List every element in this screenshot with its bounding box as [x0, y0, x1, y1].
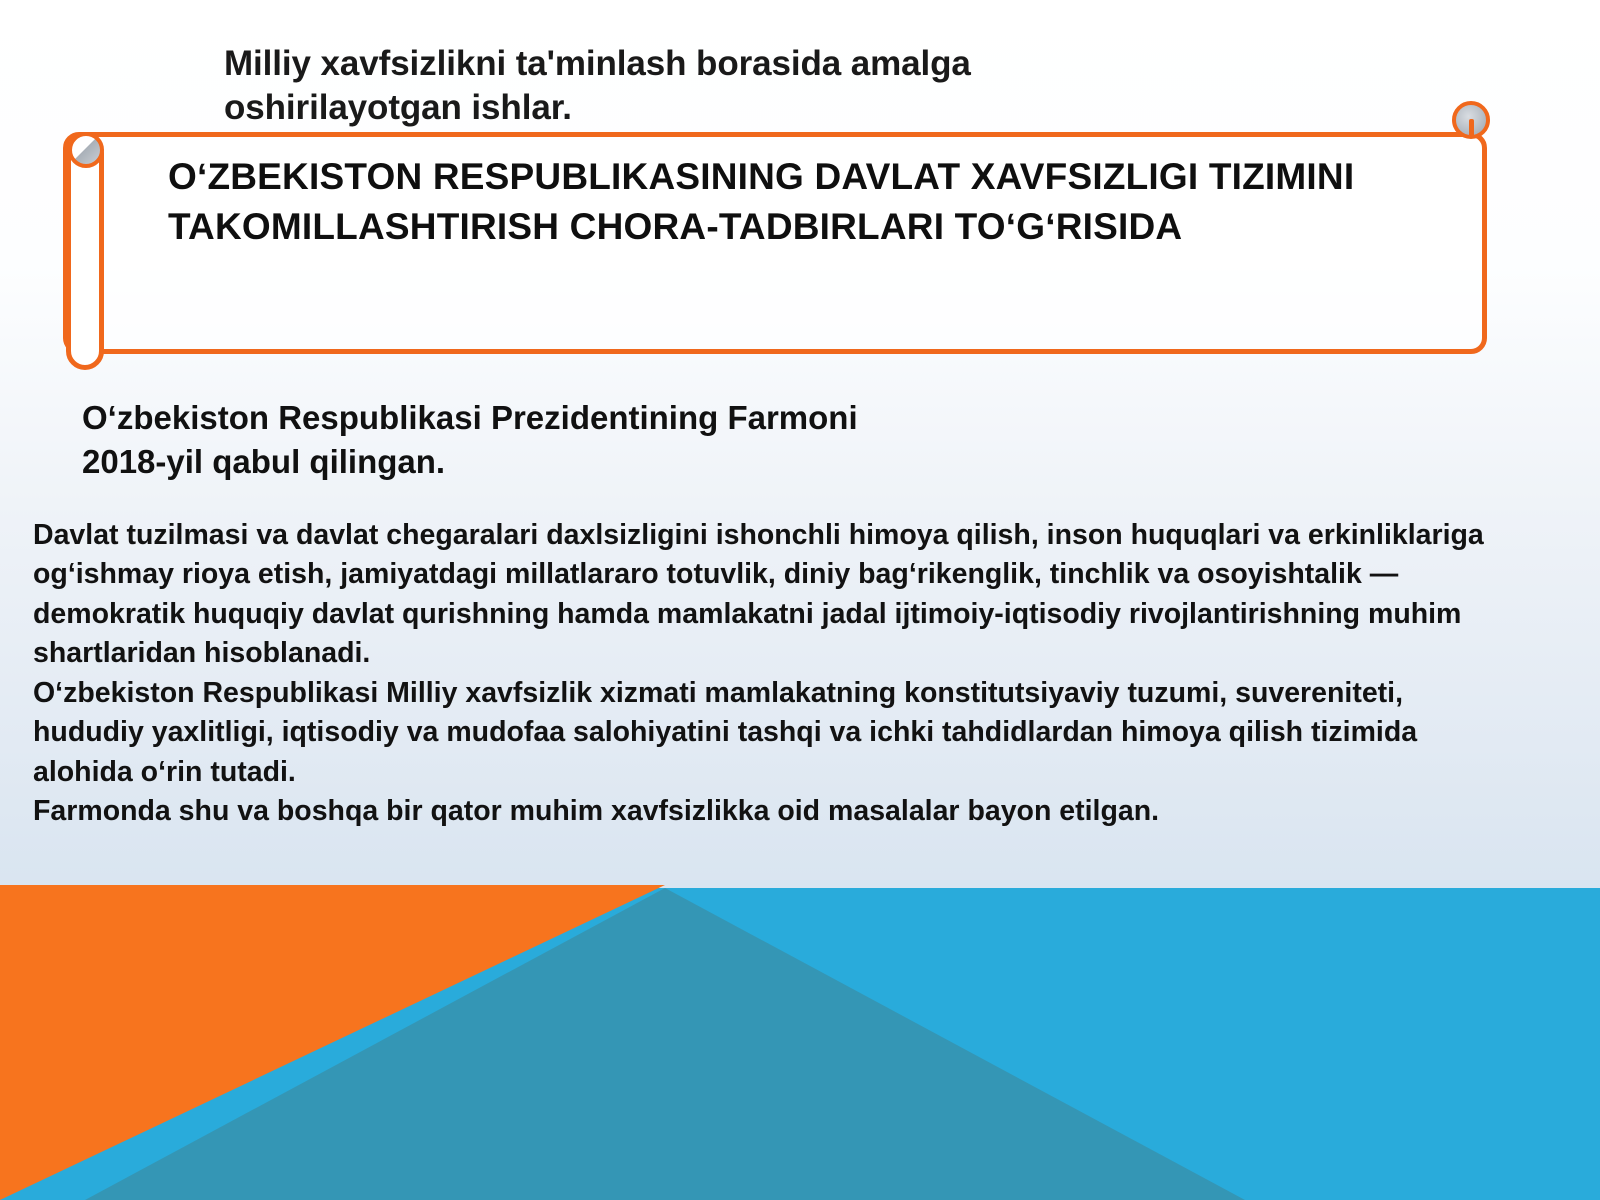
slide-canvas: Milliy xavfsizlikni ta'minlash borasida …: [0, 0, 1600, 1200]
scroll-roll: [66, 134, 104, 370]
body-paragraph: O‘zbekiston Respublikasi Milliy xavfsizl…: [33, 674, 1488, 792]
page-title: Milliy xavfsizlikni ta'minlash borasida …: [224, 42, 1174, 131]
scroll-knob-left-icon: [68, 132, 104, 168]
scroll-knob-right-icon: [1452, 101, 1490, 139]
body-paragraph: Davlat tuzilmasi va davlat chegaralari d…: [33, 516, 1488, 674]
decree-subtitle: O‘zbekiston Respublikasi Prezidentining …: [82, 396, 1232, 483]
decree-title: O‘ZBEKISTON RESPUBLIKASINING DAVLAT XAVF…: [168, 152, 1484, 253]
body-text-block: Davlat tuzilmasi va davlat chegaralari d…: [33, 516, 1488, 832]
body-paragraph: Farmonda shu va boshqa bir qator muhim x…: [33, 792, 1488, 831]
